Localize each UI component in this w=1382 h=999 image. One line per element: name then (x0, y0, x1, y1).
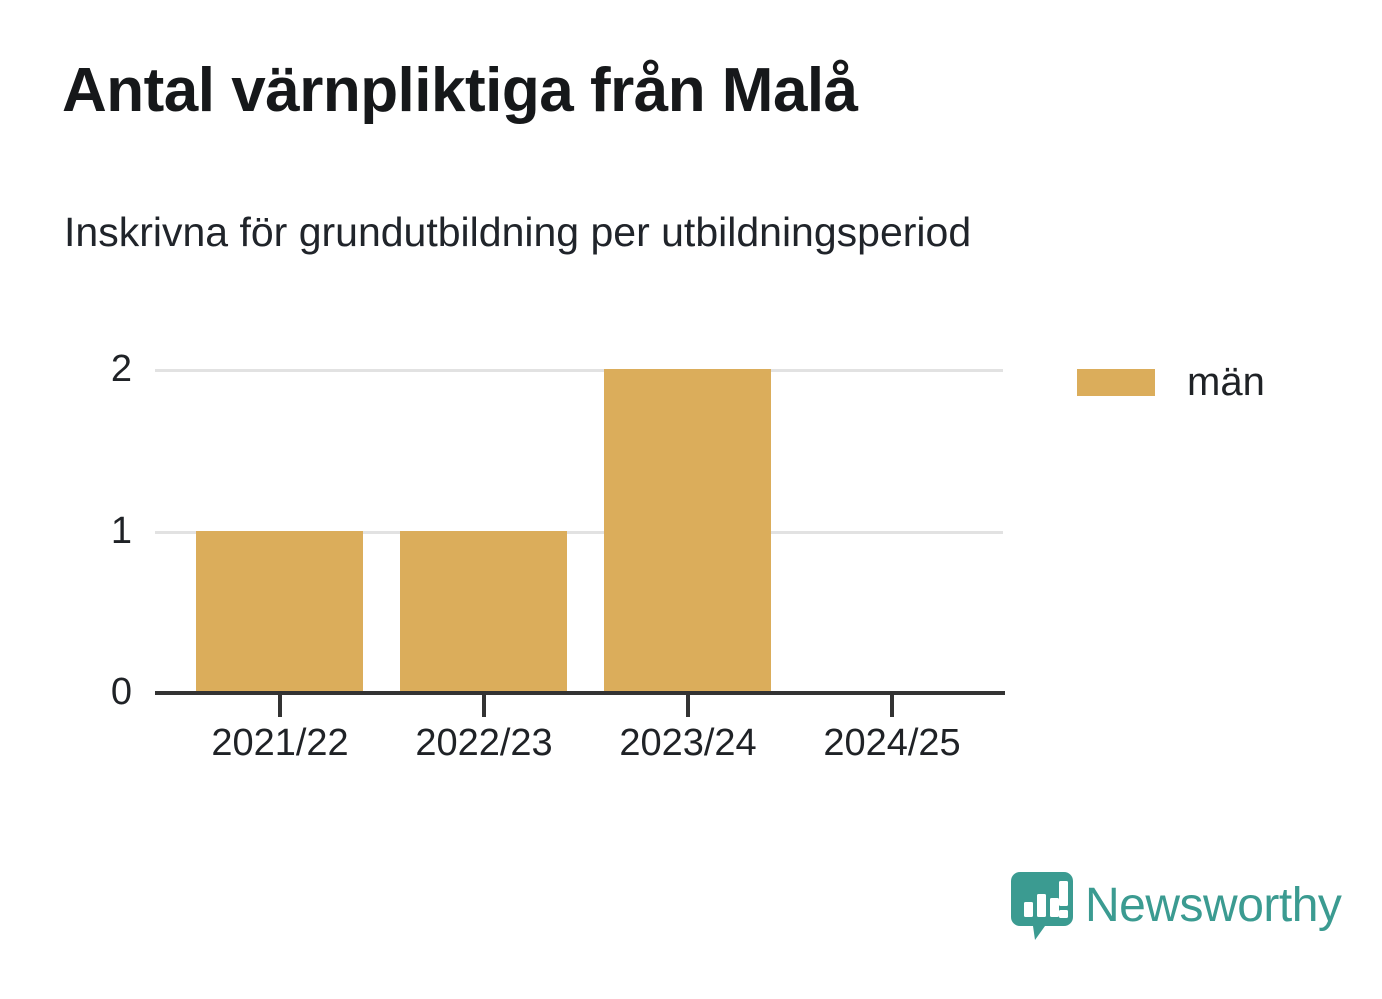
newsworthy-wordmark: Newsworthy (1085, 882, 1341, 930)
bar-2023-24[interactable] (604, 369, 771, 693)
legend-label-man[interactable]: män (1187, 362, 1265, 402)
x-tick-label-2021-22: 2021/22 (211, 724, 348, 762)
bar-2021-22[interactable] (196, 531, 363, 693)
x-axis-line (155, 691, 1005, 695)
legend: män (1077, 362, 1265, 402)
x-tick-label-2022-23: 2022/23 (415, 724, 552, 762)
x-tick-label-2024-25: 2024/25 (823, 724, 960, 762)
bar-2022-23[interactable] (400, 531, 567, 693)
plot-area (155, 369, 1003, 693)
x-tick-mark-2021-22 (278, 695, 282, 717)
page-title: Antal värnpliktiga från Malå (62, 60, 858, 122)
speech-bubble-bar-chart-icon (1011, 872, 1073, 940)
y-axis: 2 1 0 (60, 0, 132, 999)
x-tick-label-2023-24: 2023/24 (619, 724, 756, 762)
gridline-2 (155, 369, 1003, 372)
newsworthy-logo[interactable]: Newsworthy (1011, 872, 1341, 940)
chart-subtitle: Inskrivna för grundutbildning per utbild… (64, 212, 971, 253)
y-tick-label-2: 2 (86, 350, 132, 388)
legend-swatch-man[interactable] (1077, 369, 1155, 396)
x-tick-mark-2022-23 (482, 695, 486, 717)
x-tick-mark-2023-24 (686, 695, 690, 717)
y-tick-label-1: 1 (86, 512, 132, 550)
y-tick-label-0: 0 (86, 673, 132, 711)
x-tick-mark-2024-25 (890, 695, 894, 717)
